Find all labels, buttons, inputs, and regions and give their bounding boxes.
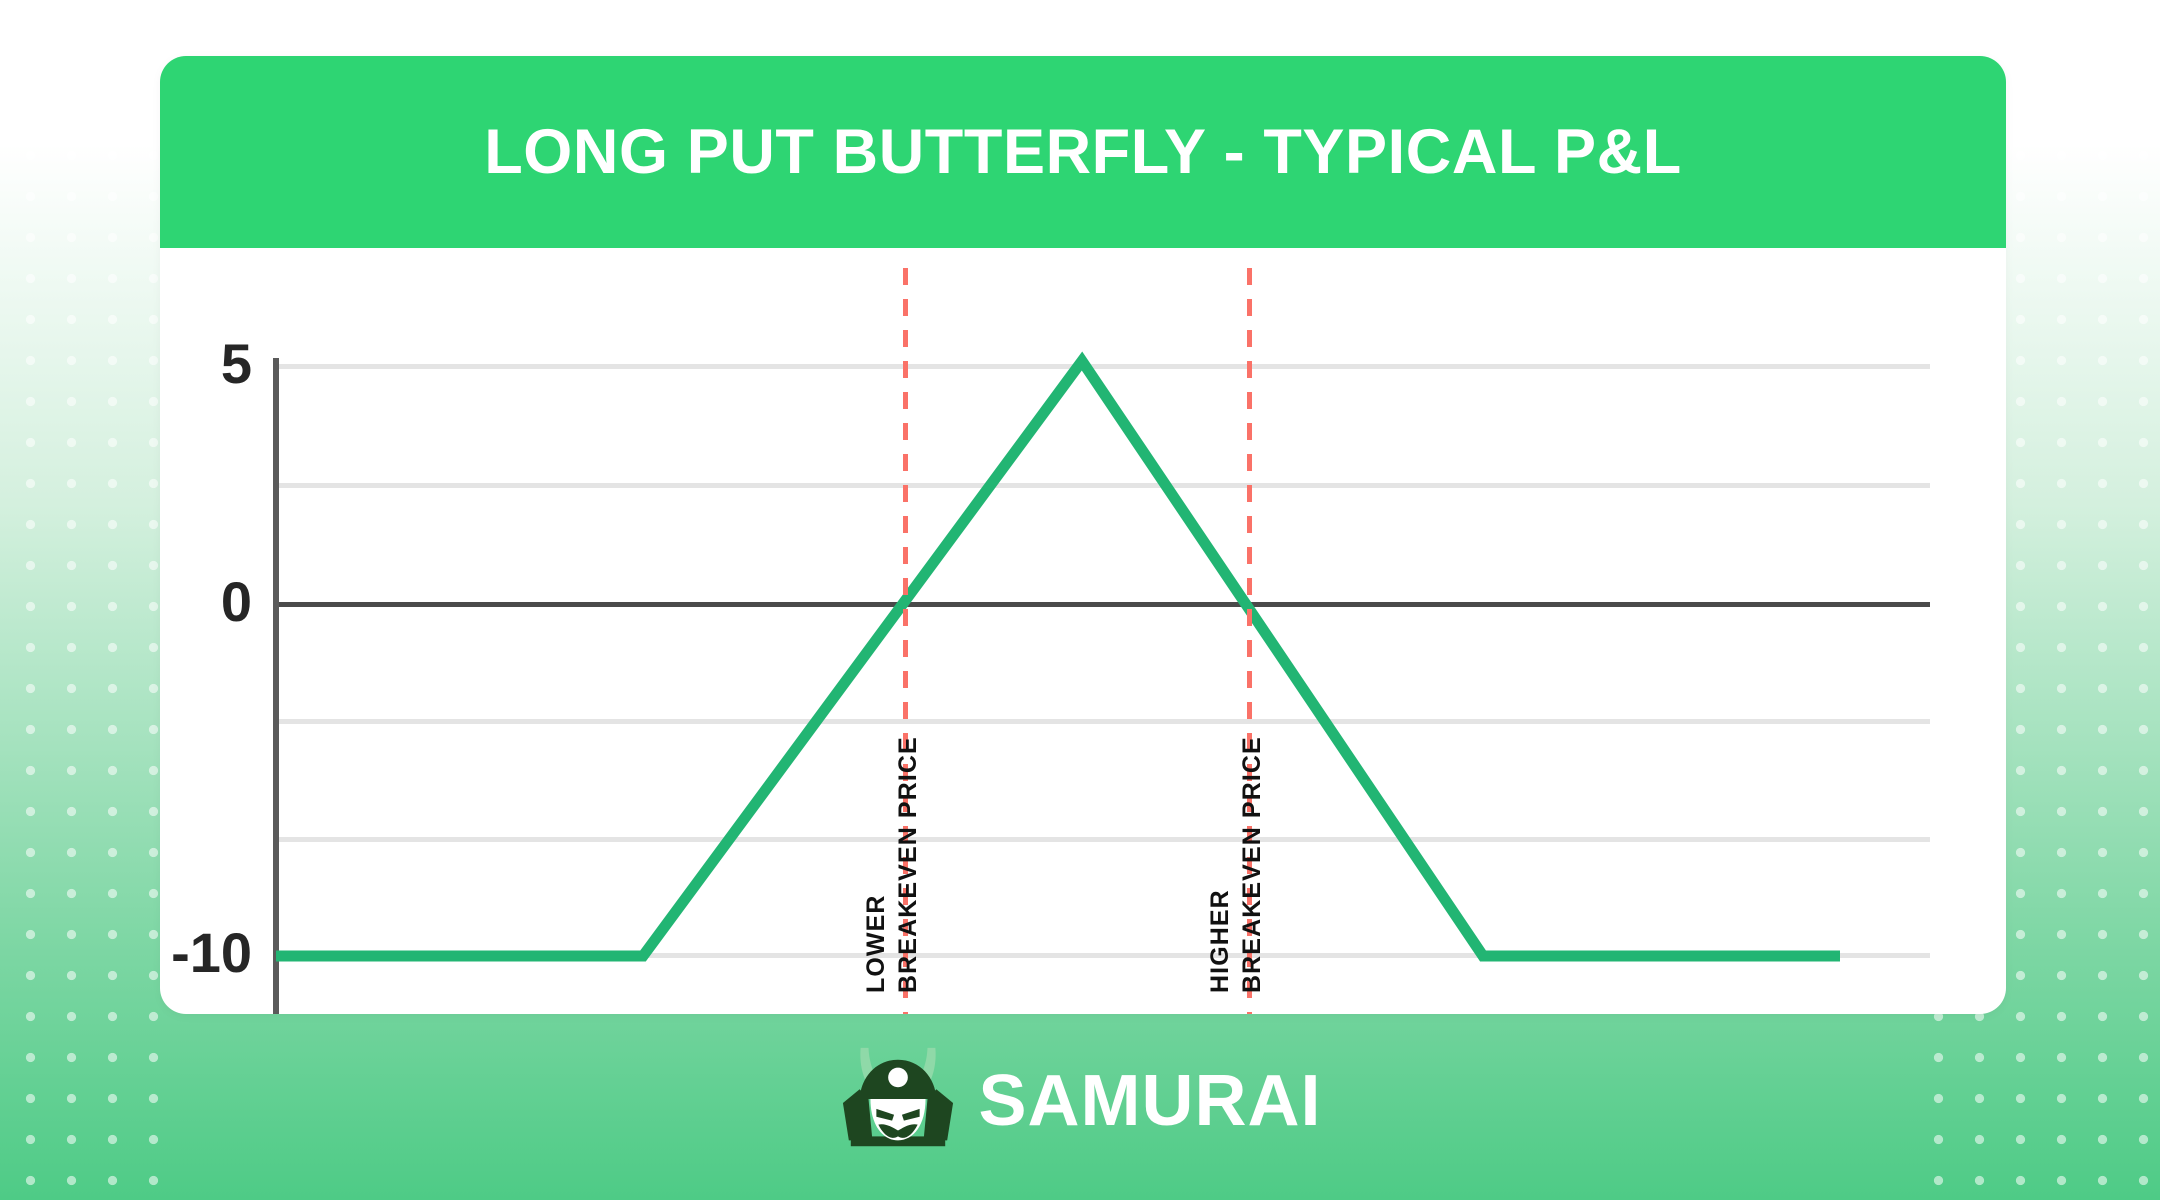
lower-breakeven-label-line2: BREAKEVEN PRICE: [896, 736, 921, 993]
samurai-helmet-icon: [839, 1042, 957, 1160]
higher-breakeven-label-line1: HIGHER: [1208, 889, 1233, 993]
brand-footer: SAMURAI: [0, 1036, 2160, 1166]
brand-name: SAMURAI: [979, 1065, 1322, 1137]
chart-card: LONG PUT BUTTERFLY - TYPICAL P&L 5 0 -10: [160, 56, 2006, 1014]
plot-area: 5 0 -10 LOWER BREAKEVEN PRICE HIGHER BRE…: [160, 248, 2006, 1014]
chart-title-bar: LONG PUT BUTTERFLY - TYPICAL P&L: [160, 56, 2006, 248]
chart-infographic: LONG PUT BUTTERFLY - TYPICAL P&L 5 0 -10: [0, 0, 2160, 1200]
pnl-payoff-line: [160, 248, 2006, 1014]
higher-breakeven-label-line2: BREAKEVEN PRICE: [1240, 736, 1265, 993]
lower-breakeven-label-line1: LOWER: [864, 894, 889, 993]
chart-title: LONG PUT BUTTERFLY - TYPICAL P&L: [484, 121, 1682, 184]
background-dot-pattern-left: [0, 0, 162, 1200]
